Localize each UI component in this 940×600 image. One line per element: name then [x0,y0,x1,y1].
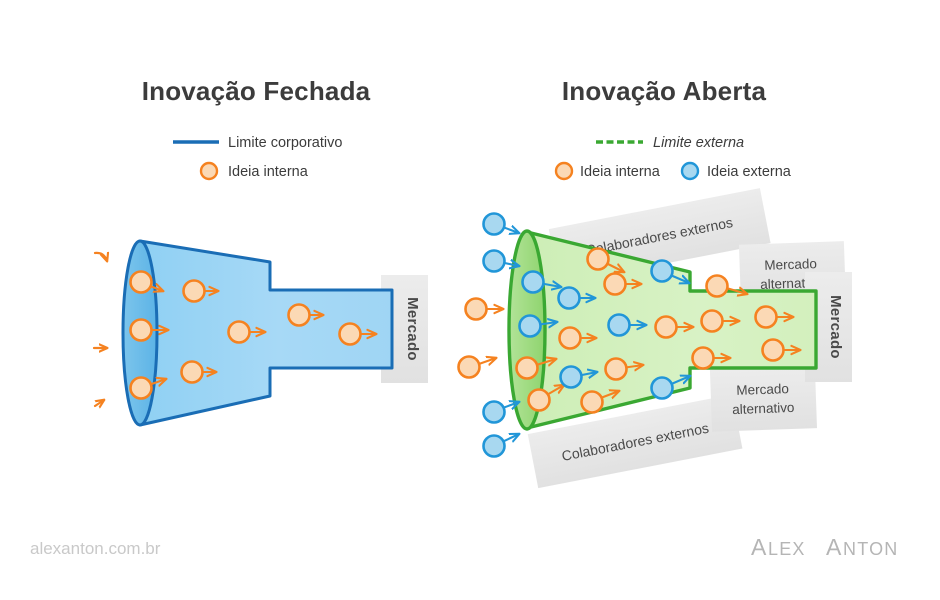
left-market-box-label: Mercado [404,297,421,361]
idea-dot [484,434,520,457]
legend-label-internal-idea: Ideia interna [228,164,309,180]
alt-market-bottom-box: Mercado alternativo [710,366,817,432]
brand-a1: A [751,534,768,560]
blocked-arrow-top [95,253,107,261]
legend-label-internal-idea: Ideia interna [580,164,661,180]
left-legend: Limite corporativo Ideia interna [173,135,342,180]
idea-dot [484,402,520,423]
alt-market-bottom-line2: alternativo [732,400,795,417]
blocked-arrow-bottom [95,400,104,406]
brand-lex: LEX [768,539,806,559]
alt-market-bottom-line1: Mercado [736,381,789,398]
legend-marker-internal-idea [556,163,572,179]
legend-label-external-boundary: Limite externa [653,135,744,151]
right-legend: Limite externa Ideia interna Ideia exter… [556,135,792,180]
left-panel-title: Inovação Fechada [142,76,371,106]
open-innovation-funnel: Colaboradores externos Colaboradores ext… [459,188,853,488]
alt-market-top-line1: Mercado [764,256,817,273]
innovation-funnel-diagram: Inovação Fechada Inovação Aberta Limite … [0,0,940,600]
right-market-box-label: Mercado [827,295,844,359]
watermark-url: alexanton.com.br [30,539,161,558]
closed-innovation-funnel: Mercado [94,241,428,425]
brand-nton: NTON [843,539,898,559]
brand-signature: A LEX A NTON [751,534,898,560]
idea-dot [484,214,520,235]
legend-label-corporate-boundary: Limite corporativo [228,135,342,151]
alt-market-bottom-rect [710,366,817,432]
blocked-idea-arrows [94,253,107,406]
idea-dot [459,357,497,378]
brand-a2: A [826,534,843,560]
legend-label-external-idea: Ideia externa [707,164,792,180]
right-panel-title: Inovação Aberta [562,76,767,106]
diagram-canvas: Inovação Fechada Inovação Aberta Limite … [0,0,940,600]
legend-marker-internal-idea [201,163,217,179]
idea-dot [466,299,504,320]
legend-marker-external-idea [682,163,698,179]
